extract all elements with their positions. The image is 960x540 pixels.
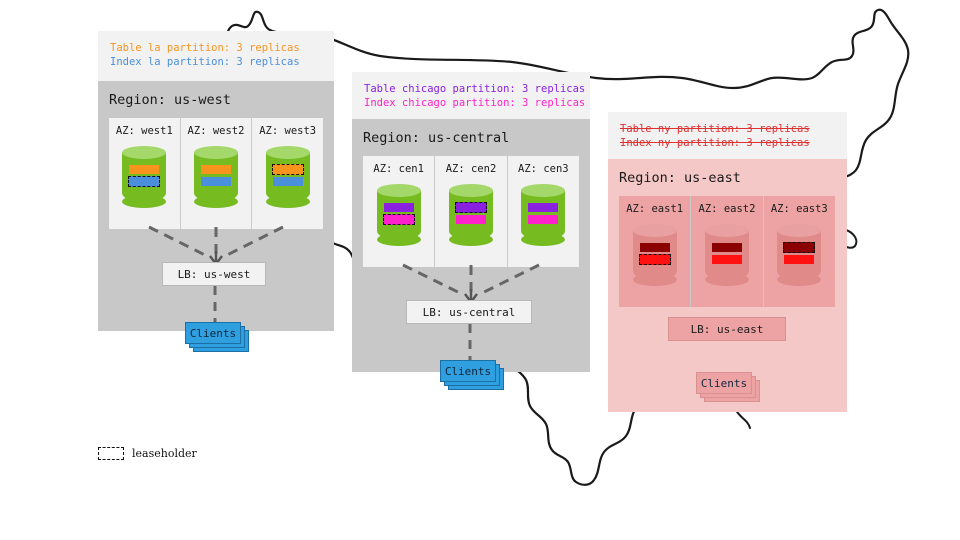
table-partition-line: Table chicago partition: 3 replicas [364,82,578,96]
replica-cylinder [449,184,493,246]
az-west1[interactable]: AZ: west1 [109,118,180,229]
index-partition-line: Index la partition: 3 replicas [110,55,322,69]
az-cen1[interactable]: AZ: cen1 [363,156,434,267]
cylinder-top [777,224,821,237]
region-cluster-us-west: Table la partition: 3 replicas Index la … [98,31,334,331]
az-label: AZ: east1 [626,203,683,215]
clients-stack-us-west[interactable]: Clients [185,322,245,348]
index-partition-bar [201,177,231,186]
cylinder-top [705,224,749,237]
az-label: AZ: west3 [259,125,316,137]
index-partition-bar-leaseholder [383,214,415,225]
replica-cylinder [194,146,238,208]
table-partition-bar [640,243,670,252]
region-panel-us-central: Region: us-central AZ: cen1 AZ: cen2 [352,119,590,372]
clients-stack-us-east[interactable]: Clients [696,372,756,398]
clients-box[interactable]: Clients [185,322,241,344]
lb-to-clients-connector [463,324,477,362]
cylinder-bottom [705,273,749,286]
cylinder-bottom [266,195,310,208]
az-label: AZ: cen1 [373,163,424,175]
index-partition-line: Index chicago partition: 3 replicas [364,96,578,110]
table-partition-bar [201,165,231,174]
clients-box[interactable]: Clients [440,360,496,382]
replica-cylinder [633,224,677,286]
clients-box[interactable]: Clients [696,372,752,394]
az-cen3[interactable]: AZ: cen3 [507,156,579,267]
clients-stack-us-central[interactable]: Clients [440,360,500,386]
partition-header-us-east: Table ny partition: 3 replicas Index ny … [608,112,847,159]
cylinder-top [633,224,677,237]
az-label: AZ: cen2 [446,163,497,175]
leaseholder-swatch-icon [98,447,124,460]
index-partition-line: Index ny partition: 3 replicas [620,136,835,150]
az-west3[interactable]: AZ: west3 [251,118,323,229]
cylinder-top [266,146,310,159]
az-cen2[interactable]: AZ: cen2 [434,156,506,267]
az-label: AZ: west2 [188,125,245,137]
index-partition-bar [712,255,742,264]
replica-cylinder [705,224,749,286]
region-panel-us-east: Region: us-east AZ: east1 AZ: east2 [608,159,847,412]
cylinder-bottom [449,233,493,246]
replica-cylinder [377,184,421,246]
az-container-us-west: AZ: west1 AZ: west2 [109,118,323,229]
index-partition-bar [273,177,303,186]
legend-label: leaseholder [132,447,197,460]
region-title: Region: us-west [109,92,231,108]
cylinder-top [521,184,565,197]
cylinder-bottom [777,273,821,286]
az-label: AZ: cen3 [518,163,569,175]
table-partition-bar [129,165,159,174]
cylinder-bottom [633,273,677,286]
region-title: Region: us-east [619,170,741,186]
replica-cylinder [122,146,166,208]
index-partition-bar [784,255,814,264]
partition-header-us-central: Table chicago partition: 3 replicas Inde… [352,72,590,119]
az-east1[interactable]: AZ: east1 [619,196,690,307]
az-east3[interactable]: AZ: east3 [763,196,835,307]
replica-cylinder [521,184,565,246]
az-container-us-central: AZ: cen1 AZ: cen2 [363,156,579,267]
index-partition-bar [456,215,486,224]
az-container-us-east: AZ: east1 AZ: east2 [619,196,835,307]
cylinder-bottom [521,233,565,246]
cylinder-bottom [194,195,238,208]
table-partition-bar-leaseholder [272,164,304,175]
table-partition-line: Table la partition: 3 replicas [110,41,322,55]
az-label: AZ: east3 [771,203,828,215]
az-label: AZ: west1 [116,125,173,137]
table-partition-bar [384,203,414,212]
region-title: Region: us-central [363,130,509,146]
cylinder-bottom [377,233,421,246]
az-east2[interactable]: AZ: east2 [690,196,762,307]
cylinder-top [377,184,421,197]
region-cluster-us-central: Table chicago partition: 3 replicas Inde… [352,72,590,372]
table-partition-bar-leaseholder [455,202,487,213]
partition-header-us-west: Table la partition: 3 replicas Index la … [98,31,334,81]
replica-cylinder [266,146,310,208]
index-partition-bar [528,215,558,224]
cylinder-top [122,146,166,159]
region-cluster-us-east: Table ny partition: 3 replicas Index ny … [608,112,847,412]
lb-to-clients-connector [208,286,222,324]
load-balancer-us-central[interactable]: LB: us-central [406,300,532,324]
legend: leaseholder [98,447,197,460]
region-panel-us-west: Region: us-west AZ: west1 AZ: west2 [98,81,334,331]
diagram-canvas: Table la partition: 3 replicas Index la … [0,0,960,540]
load-balancer-us-west[interactable]: LB: us-west [162,262,266,286]
table-partition-line: Table ny partition: 3 replicas [620,122,835,136]
az-west2[interactable]: AZ: west2 [180,118,252,229]
load-balancer-us-east[interactable]: LB: us-east [668,317,786,341]
index-partition-bar-leaseholder [128,176,160,187]
index-partition-bar-leaseholder [639,254,671,265]
table-partition-bar-leaseholder [783,242,815,253]
cylinder-top [449,184,493,197]
replica-cylinder [777,224,821,286]
az-label: AZ: east2 [699,203,756,215]
table-partition-bar [528,203,558,212]
cylinder-bottom [122,195,166,208]
cylinder-top [194,146,238,159]
table-partition-bar [712,243,742,252]
